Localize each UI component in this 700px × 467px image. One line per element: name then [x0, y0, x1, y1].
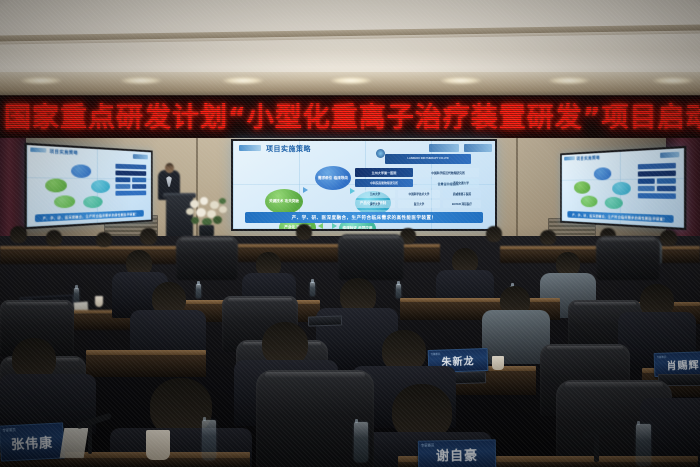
- slide-partner-logo: [638, 163, 676, 170]
- slide-partner-logo-9: 复旦大学: [398, 200, 440, 208]
- nameplate-name: 肖赐辉: [666, 356, 700, 372]
- slide-partner-logo-2: 中国科学院近代物理研究所: [417, 168, 479, 177]
- desk-row-d-face: [86, 355, 206, 377]
- attendee-head: [46, 230, 62, 246]
- paper-cup-foreground: [146, 430, 170, 460]
- monitor-right-slide-title: 项目实施策略: [577, 155, 601, 162]
- led-banner: 国家重点研发计划“小型化重离子治疗装置研发”项目启动会暨专家委员会成立大: [0, 95, 700, 140]
- slide-flow-arrow: [332, 223, 337, 229]
- slide-bubble-4: [581, 196, 598, 208]
- microphone-stem: [88, 424, 92, 454]
- water-bottle-foreground: [202, 420, 216, 460]
- slide-bubble-1: [71, 164, 91, 178]
- ceiling: [0, 0, 700, 96]
- ceiling-downlight: [440, 77, 482, 84]
- monitor-left: 项目实施策略 产、学、研、医深度融合，生产符合临床需求的高性能医学装置！: [24, 143, 152, 230]
- speaker-head: [165, 163, 174, 173]
- slide-bubble-2: [45, 178, 67, 192]
- attendee-head: [10, 226, 27, 243]
- conference-chair: [176, 236, 238, 280]
- slide-left-logo: [564, 156, 575, 160]
- slide-bubble-2: [574, 181, 590, 193]
- slide-left-logo: [30, 147, 46, 152]
- conference-hall-photo: 国家重点研发计划“小型化重离子治疗装置研发”项目启动会暨专家委员会成立大 项目实…: [0, 0, 700, 467]
- slide-partner-logo-10: BAYER 拜耳医疗: [443, 200, 481, 208]
- slide-right-logo-2: [464, 144, 492, 152]
- attendee-head: [486, 226, 502, 242]
- nameplate-tag: 专家委员: [421, 442, 435, 447]
- slide-partner-logo-11: 西安交通大学: [443, 179, 479, 187]
- attendee-head: [96, 232, 112, 247]
- water-bottle: [310, 282, 315, 296]
- slide-left-logo: [239, 145, 261, 151]
- water-bottle: [396, 284, 401, 298]
- slide-bubble-3: [612, 182, 631, 195]
- monitor-left-slide: 项目实施策略 产、学、研、医深度融合，生产符合临床需求的高性能医学装置！: [27, 145, 151, 227]
- slide-partner-logo-8: 清华大学: [355, 200, 395, 208]
- meeting-paper: [60, 428, 89, 458]
- slide-right-logo: [133, 154, 148, 159]
- slide-partner-logo: [657, 186, 676, 191]
- slide-partner-logo: [657, 178, 676, 184]
- attendee-head: [540, 230, 556, 245]
- meeting-tablet: [308, 315, 342, 326]
- paper-cup: [95, 296, 103, 307]
- slide-partner-logo: [638, 186, 655, 191]
- slide-partner-logo: [115, 184, 130, 189]
- conference-chair: [338, 234, 404, 280]
- main-slide: 项目实施策略 需求牵引 临床导向 关键技术 攻关突破 产品化 工程研制 产业化 …: [233, 141, 495, 229]
- slide-partners-heading: LANZHOU ION THERAPY CO.LTD: [385, 154, 471, 164]
- main-slide-title: 项目实施策略: [266, 144, 311, 154]
- water-bottle: [74, 288, 79, 302]
- slide-flow-arrow: [303, 187, 308, 193]
- attendee-head: [296, 224, 312, 240]
- monitor-main: 项目实施策略 需求牵引 临床导向 关键技术 攻关突破 产品化 工程研制 产业化 …: [231, 139, 497, 231]
- slide-bubble-2: 关键技术 攻关突破: [265, 189, 303, 214]
- slide-partner-logo: [115, 191, 146, 196]
- slide-right-logo: [660, 152, 679, 158]
- ceiling-downlight: [330, 77, 372, 84]
- slide-partner-logo: [638, 178, 655, 183]
- nameplate-name: 张伟康: [11, 431, 54, 452]
- ceiling-downlight: [548, 77, 590, 84]
- slide-partner-logo-6: 中国科学技术大学: [398, 190, 440, 198]
- wall-panel-seam: [516, 138, 518, 248]
- nameplate-tag: 专家委员: [431, 352, 441, 356]
- monitor-left-slide-title: 项目实施策略: [50, 148, 79, 156]
- ceiling-downlight: [652, 77, 694, 84]
- slide-partner-logo: [115, 164, 146, 170]
- slide-right-logo-1: [429, 144, 459, 152]
- water-bottle-foreground: [636, 424, 651, 466]
- water-bottle: [196, 284, 201, 298]
- slide-partner-logo: [115, 177, 130, 182]
- slide-partner-logo: [132, 184, 146, 189]
- monitor-right: 项目实施策略 产、学、研、医深度融合，生产符合临床需求的高性能医学装置！: [560, 146, 686, 230]
- slide-partner-logo: [638, 193, 676, 199]
- slide-partner-logo: [132, 178, 146, 183]
- slide-partner-logo: [115, 171, 146, 176]
- attendee-head: [140, 228, 157, 245]
- monitor-right-slide: 项目实施策略 产、学、研、医深度融合，生产符合临床需求的高性能医学装置！: [562, 148, 684, 228]
- ceiling-downlight: [20, 77, 62, 84]
- nameplate-name: 谢自豪: [436, 445, 478, 465]
- ceiling-cornice: [0, 72, 700, 96]
- ceiling-downlight: [222, 77, 264, 84]
- slide-partner-logo-1: 兰州大学第一医院: [355, 168, 413, 177]
- desk-row-a-face: [0, 250, 180, 264]
- microphone-stem: [594, 434, 599, 462]
- nameplate-tag: 专家委员: [657, 355, 667, 359]
- nameplate-tag: 专家委员: [2, 427, 16, 433]
- conference-chair: [596, 236, 660, 280]
- slide-partner-logo-5: 兰州大学: [355, 190, 395, 198]
- paper-cup: [492, 356, 504, 370]
- main-slide-footer: 产、学、研、医深度融合，生产符合临床需求的高性能医学装置！: [245, 212, 483, 223]
- slide-bubble-3: [91, 180, 110, 193]
- slide-partner-logo: [638, 170, 676, 176]
- slide-bubble-5: [605, 197, 623, 209]
- nameplate-front-left: 专家委员 张伟康: [0, 422, 65, 461]
- slide-partner-logo-3: 中科院高能物理研究所: [355, 179, 413, 187]
- slide-flow-arrow: [318, 223, 323, 229]
- slide-partner-logo-7: 武威重离子医院: [443, 190, 481, 198]
- banner-title-text: 国家重点研发计划“小型化重离子治疗装置研发”项目启动会暨专家委员会成立大: [4, 104, 700, 131]
- attendee-head: [660, 230, 677, 246]
- nameplate-front-right: 专家委员 谢自豪: [418, 439, 496, 467]
- slide-bubble-1: 需求牵引 临床导向: [315, 166, 351, 190]
- ceiling-downlight: [120, 77, 162, 84]
- water-bottle-foreground: [354, 422, 368, 462]
- slide-partner-emblem: [376, 149, 385, 158]
